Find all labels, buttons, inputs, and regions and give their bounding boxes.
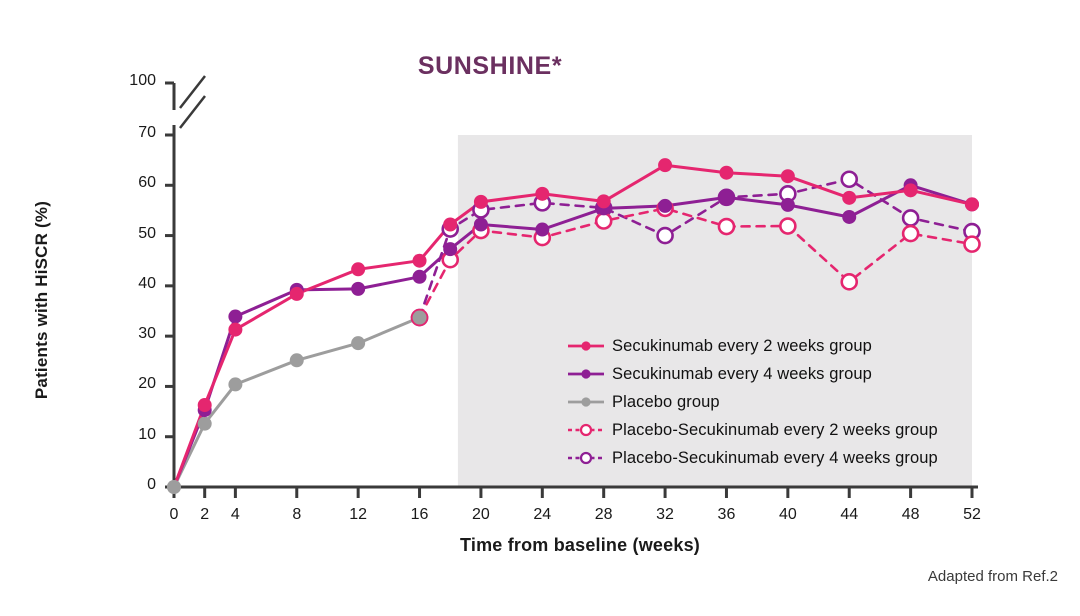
data-point	[658, 199, 672, 213]
data-point	[351, 336, 365, 350]
y-tick-label: 0	[116, 476, 156, 494]
axis-break-slash-0	[180, 96, 205, 128]
data-point	[535, 187, 549, 201]
legend-label: Placebo-Secukinumab every 4 weeks group	[612, 449, 938, 468]
data-point	[781, 198, 795, 212]
x-tick-label: 20	[461, 506, 501, 524]
legend-swatch-placebo-secukinumab-q2w	[566, 420, 606, 440]
data-point	[842, 172, 857, 187]
data-point	[474, 195, 488, 209]
source-note: Adapted from Ref.2	[928, 568, 1058, 585]
x-tick-label: 52	[952, 506, 992, 524]
data-point	[443, 242, 457, 256]
data-point	[719, 190, 733, 204]
data-point	[904, 183, 918, 197]
legend-item: Placebo group	[566, 389, 938, 415]
y-tick-label: 50	[116, 225, 156, 243]
data-point	[903, 210, 918, 225]
data-point	[443, 218, 457, 232]
x-tick-label: 32	[645, 506, 685, 524]
x-tick-label: 12	[338, 506, 378, 524]
legend-swatch-secukinumab-q4w	[566, 364, 606, 384]
x-tick-label: 44	[829, 506, 869, 524]
data-point	[965, 197, 979, 211]
axis-break-slash-1	[180, 76, 205, 108]
y-tick-label: 100	[116, 72, 156, 90]
data-point	[290, 287, 304, 301]
data-point	[842, 210, 856, 224]
data-point	[198, 417, 212, 431]
data-point	[228, 377, 242, 391]
chart-legend: Secukinumab every 2 weeks group Secukinu…	[566, 333, 938, 473]
data-point	[658, 158, 672, 172]
data-point	[719, 166, 733, 180]
data-point	[198, 398, 212, 412]
x-tick-label: 24	[522, 506, 562, 524]
data-point	[351, 262, 365, 276]
legend-item: Placebo-Secukinumab every 4 weeks group	[566, 445, 938, 471]
x-tick-label: 4	[215, 506, 255, 524]
legend-swatch-placebo-secukinumab-q4w	[566, 448, 606, 468]
x-tick-label: 36	[706, 506, 746, 524]
y-tick-label: 10	[116, 426, 156, 444]
legend-item: Secukinumab every 4 weeks group	[566, 361, 938, 387]
x-axis-label: Time from baseline (weeks)	[170, 535, 990, 556]
chart-title: SUNSHINE*	[335, 52, 645, 81]
data-point	[228, 310, 242, 324]
data-point	[413, 254, 427, 268]
x-tick-label: 48	[891, 506, 931, 524]
legend-item: Secukinumab every 2 weeks group	[566, 333, 938, 359]
y-tick-label: 30	[116, 325, 156, 343]
x-tick-label: 8	[277, 506, 317, 524]
data-point	[351, 282, 365, 296]
data-point	[719, 219, 734, 234]
y-axis-label: Patients with HiSCR (%)	[32, 150, 52, 450]
x-tick-label: 28	[584, 506, 624, 524]
data-point	[413, 311, 427, 325]
data-point	[781, 169, 795, 183]
legend-label: Secukinumab every 4 weeks group	[612, 365, 872, 384]
legend-swatch-placebo	[566, 392, 606, 412]
data-point	[903, 226, 918, 241]
legend-swatch-secukinumab-q2w	[566, 336, 606, 356]
origin-data-point	[167, 480, 181, 494]
data-point	[413, 270, 427, 284]
data-point	[780, 219, 795, 234]
data-point	[228, 323, 242, 337]
legend-label: Placebo group	[612, 393, 720, 412]
data-point	[596, 213, 611, 228]
legend-label: Placebo-Secukinumab every 2 weeks group	[612, 421, 938, 440]
x-tick-label: 40	[768, 506, 808, 524]
data-point	[290, 353, 304, 367]
chart-figure: SUNSHINE* Patients with HiSCR (%) Time f…	[0, 0, 1080, 616]
data-point	[658, 228, 673, 243]
y-tick-label: 60	[116, 174, 156, 192]
data-point	[842, 274, 857, 289]
legend-item: Placebo-Secukinumab every 2 weeks group	[566, 417, 938, 443]
data-point	[597, 194, 611, 208]
y-tick-label: 20	[116, 375, 156, 393]
data-point	[842, 191, 856, 205]
data-point	[474, 218, 488, 232]
y-tick-label: 40	[116, 275, 156, 293]
y-tick-label: 70	[116, 124, 156, 142]
data-point	[965, 237, 980, 252]
x-tick-label: 16	[400, 506, 440, 524]
data-point	[535, 223, 549, 237]
legend-label: Secukinumab every 2 weeks group	[612, 337, 872, 356]
